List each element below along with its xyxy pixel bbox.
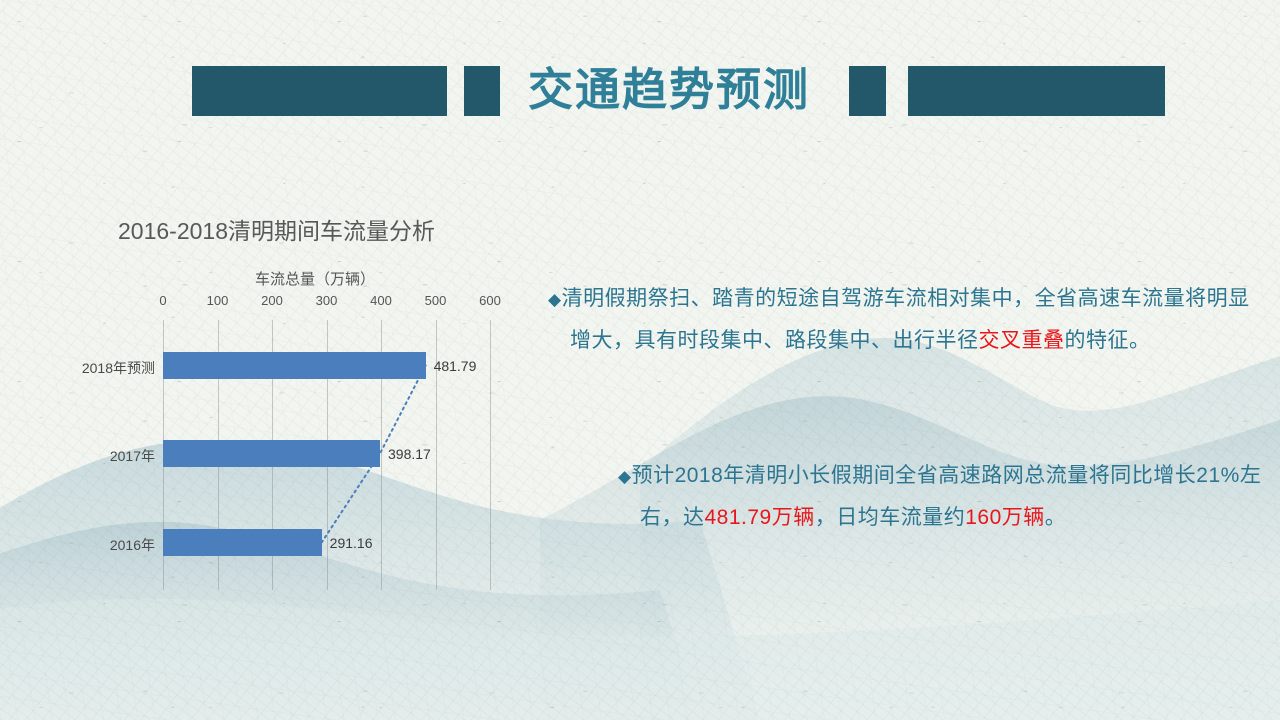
bullet-highlight-text: 交叉重叠 — [979, 329, 1065, 352]
chart-bar[interactable] — [163, 440, 380, 467]
bullet-highlight-text: 160万辆 — [965, 506, 1045, 529]
banner-bar-right — [908, 66, 1165, 116]
chart-axis-title: 车流总量（万辆） — [255, 268, 375, 289]
chart-bar[interactable] — [163, 352, 426, 379]
chart-category-label: 2018年预测 — [0, 358, 155, 378]
chart-tick-label: 400 — [370, 293, 392, 308]
chart-gridline — [490, 320, 491, 590]
bullet-diamond-icon: ◆ — [618, 467, 632, 486]
bullet-item-2: ◆预计2018年清明小长假期间全省高速路网总流量将同比增长21%左右，达481.… — [618, 455, 1280, 538]
bullet-text: 的特征。 — [1065, 329, 1151, 352]
bullet-text: 。 — [1045, 506, 1067, 529]
bullet-text: ，日均车流量约 — [815, 506, 966, 529]
chart-tick-label: 100 — [207, 293, 229, 308]
chart-tick-label: 200 — [261, 293, 283, 308]
chart-bar[interactable] — [163, 529, 322, 556]
chart-bar-value: 291.16 — [330, 535, 373, 551]
bullet-diamond-icon: ◆ — [548, 290, 562, 309]
chart-tick-label: 0 — [159, 293, 166, 308]
page-title: 交通趋势预测 — [528, 59, 828, 121]
chart-title: 2016-2018清明期间车流量分析 — [118, 212, 435, 246]
chart-category-label: 2017年 — [0, 446, 155, 466]
chart-bar-value: 481.79 — [434, 358, 477, 374]
bullet-highlight-text: 481.79万辆 — [705, 506, 815, 529]
bullet-item-1: ◆清明假期祭扫、踏青的短途自驾游车流相对集中，全省高速车流量将明显增大，具有时段… — [548, 278, 1270, 361]
chart-bar-value: 398.17 — [388, 446, 431, 462]
traffic-bar-chart: 2016-2018清明期间车流量分析 车流总量（万辆） 010020030040… — [0, 0, 540, 620]
chart-category-label: 2016年 — [0, 535, 155, 555]
slide: 交通趋势预测 2016-2018清明期间车流量分析 车流总量（万辆） 01002… — [0, 0, 1280, 720]
chart-trendline — [0, 0, 540, 620]
banner-square-right — [849, 66, 886, 116]
chart-tick-label: 600 — [479, 293, 501, 308]
chart-tick-label: 300 — [316, 293, 338, 308]
chart-tick-label: 500 — [425, 293, 447, 308]
